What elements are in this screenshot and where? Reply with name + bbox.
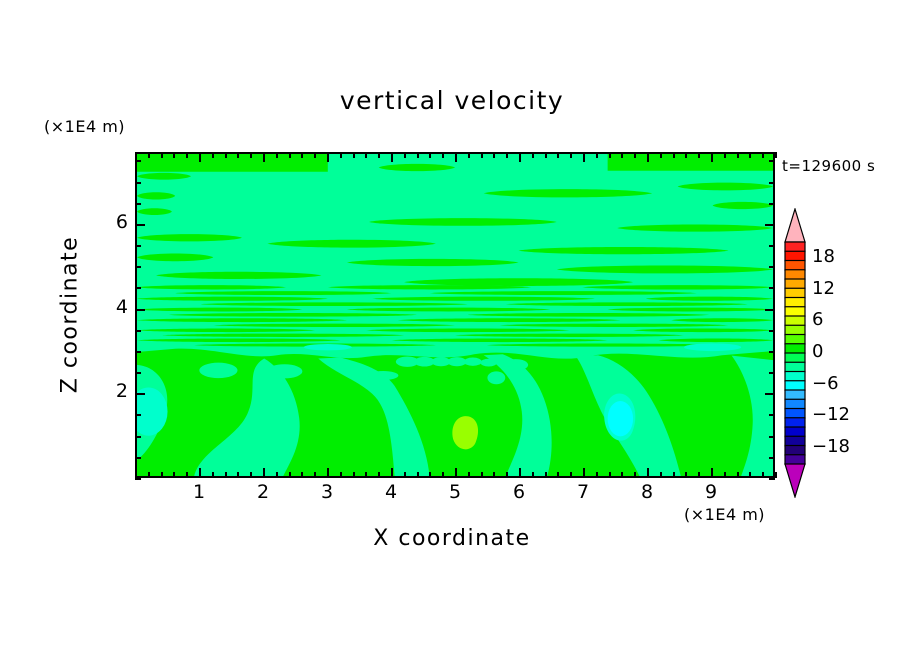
x-tick-major	[519, 468, 521, 478]
x-tick-minor	[506, 472, 508, 478]
x-tick-major-top	[391, 152, 393, 162]
colorbar-tick-label: −18	[812, 436, 850, 457]
x-tick-minor-top	[429, 152, 431, 158]
x-tick-minor	[289, 472, 291, 478]
x-tick-major-top	[327, 152, 329, 162]
x-tick-label: 5	[435, 481, 475, 503]
x-tick-minor-top	[404, 152, 406, 158]
y-tick-minor	[135, 266, 141, 268]
x-tick-major-top	[199, 152, 201, 162]
y-tick-major-right	[765, 309, 775, 311]
x-tick-minor-top	[660, 152, 662, 158]
x-tick-minor-top	[417, 152, 419, 158]
y-tick-minor	[135, 372, 141, 374]
colorbar-tick-label: −12	[812, 404, 850, 425]
x-tick-minor-top	[698, 152, 700, 158]
x-tick-minor-top	[685, 152, 687, 158]
y-tick-major	[135, 393, 145, 395]
x-tick-minor-top	[365, 152, 367, 158]
x-tick-minor-top	[212, 152, 214, 158]
x-tick-minor	[532, 472, 534, 478]
x-tick-minor-top	[557, 152, 559, 158]
x-axis-units-label: (×1E4 m)	[684, 505, 765, 524]
y-tick-minor	[135, 182, 141, 184]
small-pocket	[267, 364, 303, 378]
downdraft-core	[608, 401, 633, 436]
x-tick-label: 2	[243, 481, 283, 503]
y-tick-minor-right	[769, 457, 775, 459]
weak-downdraft	[684, 343, 741, 351]
x-tick-minor	[212, 472, 214, 478]
x-tick-label: 1	[179, 481, 219, 503]
x-tick-minor-top	[737, 152, 739, 158]
x-tick-major-top	[583, 152, 585, 162]
x-tick-minor-top	[634, 152, 636, 158]
x-tick-minor-top	[173, 152, 175, 158]
x-tick-label: 8	[627, 481, 667, 503]
x-tick-minor	[673, 472, 675, 478]
y-tick-major	[135, 309, 145, 311]
x-tick-minor	[378, 472, 380, 478]
x-tick-minor-top	[250, 152, 252, 158]
y-tick-minor-right	[769, 266, 775, 268]
colorbar-band	[785, 344, 805, 354]
y-tick-minor	[135, 478, 141, 480]
small-pocket	[480, 359, 497, 367]
colorbar-band	[785, 307, 805, 317]
y-tick-minor-right	[769, 372, 775, 374]
colorbar-band	[785, 261, 805, 271]
x-tick-label: 3	[307, 481, 347, 503]
y-tick-label: 6	[88, 211, 128, 233]
y-tick-minor	[135, 351, 141, 353]
x-tick-major	[199, 468, 201, 478]
x-tick-minor	[545, 472, 547, 478]
x-tick-major	[391, 468, 393, 478]
updraft-core	[452, 416, 478, 449]
colorbar-band	[785, 399, 805, 409]
x-tick-label: 6	[499, 481, 539, 503]
x-tick-minor-top	[353, 152, 355, 158]
x-tick-minor	[148, 472, 150, 478]
colorbar-band	[785, 390, 805, 400]
x-axis-title: X coordinate	[0, 526, 904, 551]
x-tick-minor-top	[621, 152, 623, 158]
x-tick-minor	[365, 472, 367, 478]
colorbar-band	[785, 242, 805, 252]
colorbar-band	[785, 251, 805, 261]
small-pocket	[503, 359, 528, 371]
y-tick-minor	[135, 203, 141, 205]
y-tick-minor	[135, 330, 141, 332]
x-tick-minor-top	[378, 152, 380, 158]
x-tick-minor	[442, 472, 444, 478]
x-tick-minor	[161, 472, 163, 478]
x-tick-minor-top	[237, 152, 239, 158]
colorbar-gradient	[782, 208, 808, 498]
x-tick-major-top	[455, 152, 457, 162]
y-tick-minor	[135, 436, 141, 438]
x-tick-minor-top	[148, 152, 150, 158]
x-tick-minor	[775, 472, 777, 478]
colorbar-under-arrow	[785, 464, 805, 497]
x-tick-minor-top	[301, 152, 303, 158]
y-tick-minor	[135, 160, 141, 162]
x-tick-label: 4	[371, 481, 411, 503]
x-tick-major	[327, 468, 329, 478]
x-tick-minor	[557, 472, 559, 478]
x-tick-minor-top	[673, 152, 675, 158]
x-tick-minor-top	[545, 152, 547, 158]
y-tick-minor-right	[769, 478, 775, 480]
colorbar-tick-label: 18	[812, 246, 835, 267]
x-tick-minor	[762, 472, 764, 478]
x-tick-minor-top	[276, 152, 278, 158]
y-tick-minor-right	[769, 330, 775, 332]
x-tick-minor-top	[506, 152, 508, 158]
x-tick-minor	[314, 472, 316, 478]
y-tick-minor	[135, 414, 141, 416]
small-pocket	[464, 358, 482, 366]
colorbar-band	[785, 427, 805, 437]
x-tick-minor-top	[775, 152, 777, 158]
x-tick-minor	[493, 472, 495, 478]
x-tick-minor	[737, 472, 739, 478]
x-tick-minor-top	[596, 152, 598, 158]
x-tick-minor-top	[314, 152, 316, 158]
weak-downdraft	[304, 344, 352, 350]
colorbar-band	[785, 279, 805, 289]
colorbar-band	[785, 436, 805, 446]
wave-band	[137, 154, 328, 172]
colorbar-tick-label: −6	[812, 373, 839, 394]
y-tick-minor-right	[769, 203, 775, 205]
contour-field	[137, 154, 773, 476]
y-tick-minor	[135, 287, 141, 289]
x-tick-major-top	[647, 152, 649, 162]
x-tick-minor-top	[442, 152, 444, 158]
x-tick-minor	[698, 472, 700, 478]
x-tick-minor	[417, 472, 419, 478]
x-tick-minor	[596, 472, 598, 478]
x-tick-minor	[186, 472, 188, 478]
y-tick-major-right	[765, 393, 775, 395]
x-tick-minor-top	[609, 152, 611, 158]
y-tick-minor-right	[769, 351, 775, 353]
x-tick-minor-top	[468, 152, 470, 158]
colorbar-band	[785, 446, 805, 456]
x-tick-major-top	[711, 152, 713, 162]
colorbar-tick-label: 0	[812, 341, 823, 362]
y-tick-major-right	[765, 224, 775, 226]
colorbar-band	[785, 325, 805, 335]
x-tick-minor-top	[289, 152, 291, 158]
colorbar-band	[785, 381, 805, 391]
x-tick-minor	[634, 472, 636, 478]
small-pocket	[368, 371, 399, 380]
x-tick-minor	[237, 472, 239, 478]
x-tick-minor	[481, 472, 483, 478]
contour-plot-area	[135, 152, 775, 478]
x-tick-minor	[353, 472, 355, 478]
y-tick-minor-right	[769, 182, 775, 184]
x-tick-minor	[685, 472, 687, 478]
y-tick-minor	[135, 457, 141, 459]
x-tick-minor	[724, 472, 726, 478]
colorbar	[782, 208, 808, 498]
y-tick-minor-right	[769, 160, 775, 162]
x-tick-minor-top	[135, 152, 137, 158]
x-tick-major-top	[519, 152, 521, 162]
colorbar-band	[785, 353, 805, 363]
x-tick-minor	[468, 472, 470, 478]
x-tick-minor	[660, 472, 662, 478]
x-tick-minor-top	[532, 152, 534, 158]
x-tick-minor	[173, 472, 175, 478]
y-tick-minor-right	[769, 414, 775, 416]
colorbar-tick-label: 12	[812, 278, 835, 299]
x-tick-minor	[609, 472, 611, 478]
x-tick-label: 7	[563, 481, 603, 503]
x-tick-minor	[404, 472, 406, 478]
small-pocket	[447, 357, 466, 366]
small-pocket	[487, 371, 505, 384]
x-tick-minor	[621, 472, 623, 478]
colorbar-band	[785, 409, 805, 419]
x-tick-major	[455, 468, 457, 478]
colorbar-band	[785, 270, 805, 280]
small-pocket	[199, 363, 237, 378]
colorbar-band	[785, 316, 805, 326]
x-tick-minor-top	[493, 152, 495, 158]
x-tick-major	[647, 468, 649, 478]
x-tick-minor-top	[749, 152, 751, 158]
x-tick-minor-top	[762, 152, 764, 158]
x-tick-minor-top	[724, 152, 726, 158]
colorbar-band	[785, 298, 805, 308]
colorbar-tick-label: 6	[812, 309, 823, 330]
x-tick-minor-top	[570, 152, 572, 158]
x-tick-major	[263, 468, 265, 478]
x-tick-minor	[250, 472, 252, 478]
colorbar-band	[785, 362, 805, 372]
y-tick-label: 4	[88, 296, 128, 318]
colorbar-band	[785, 455, 805, 465]
x-tick-minor-top	[186, 152, 188, 158]
colorbar-band	[785, 288, 805, 298]
x-tick-minor	[570, 472, 572, 478]
x-tick-major	[583, 468, 585, 478]
colorbar-band	[785, 418, 805, 428]
y-tick-major	[135, 224, 145, 226]
x-tick-minor	[225, 472, 227, 478]
x-tick-major-top	[263, 152, 265, 162]
timestamp-annotation: t=129600 s	[782, 157, 875, 175]
x-tick-minor	[276, 472, 278, 478]
y-tick-label: 2	[88, 380, 128, 402]
y-tick-minor-right	[769, 287, 775, 289]
x-tick-minor-top	[340, 152, 342, 158]
x-tick-minor	[340, 472, 342, 478]
x-tick-minor-top	[225, 152, 227, 158]
x-tick-minor	[429, 472, 431, 478]
colorbar-band	[785, 335, 805, 345]
x-tick-minor-top	[161, 152, 163, 158]
x-tick-minor-top	[481, 152, 483, 158]
page-title: vertical velocity	[0, 86, 904, 115]
y-tick-minor-right	[769, 245, 775, 247]
y-axis-units-label: (×1E4 m)	[44, 117, 125, 136]
x-tick-minor	[749, 472, 751, 478]
y-axis-title: Z coordinate	[58, 225, 83, 405]
colorbar-over-arrow	[785, 209, 805, 242]
colorbar-band	[785, 372, 805, 382]
y-tick-minor-right	[769, 436, 775, 438]
x-tick-major	[711, 468, 713, 478]
x-tick-minor	[301, 472, 303, 478]
y-tick-minor	[135, 245, 141, 247]
x-tick-label: 9	[691, 481, 731, 503]
